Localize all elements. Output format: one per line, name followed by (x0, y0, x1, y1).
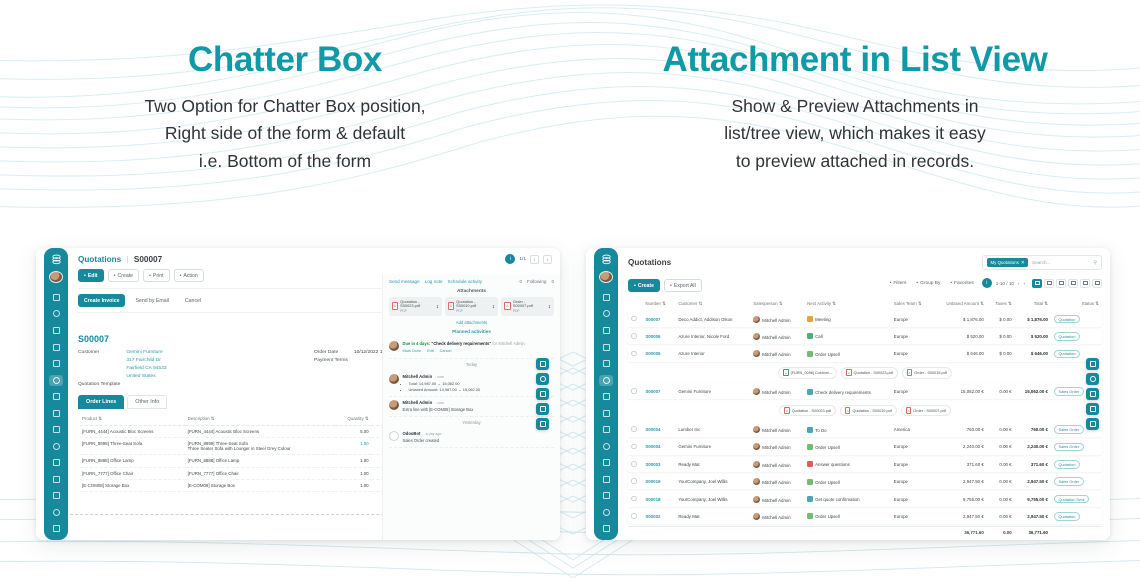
search-icon[interactable] (1086, 373, 1099, 385)
list-header-row: Number ⇅Customer ⇅Salesperson ⇅Next Acti… (628, 299, 1102, 309)
pager-prev-button[interactable]: ‹ (1018, 281, 1020, 286)
cell-number[interactable]: S00006 (642, 329, 675, 344)
list-footer-totals: 36,771.600.0036,771.60 (628, 526, 1102, 539)
message-body: Mitchell Admin- nowExtra line with [E-CO… (403, 400, 474, 412)
cell-team: Europe (891, 311, 933, 326)
shield-icon[interactable] (49, 358, 63, 369)
chatter-followers[interactable]: 0 Following 0 (519, 279, 554, 284)
message-author: OdooBot (403, 431, 421, 436)
cell-taxes: $ 0.00 (987, 329, 1015, 344)
cell-salesperson: Mitchell Admin (750, 439, 804, 454)
activity-label: To Do (815, 428, 826, 433)
plus-icon: • (114, 273, 116, 279)
person-icon[interactable] (599, 490, 613, 501)
attachment-chip[interactable]: A[FURN_0096] Customi... (778, 367, 837, 379)
grid-icon[interactable] (599, 408, 613, 419)
attachment-row: A[FURN_0096] Customi...AQuotation - S000… (628, 364, 1102, 382)
cell-number[interactable]: S00002 (642, 509, 675, 524)
avatar (389, 341, 399, 351)
cell-product: [E-COM08] Storage Box (80, 480, 186, 492)
cell-number[interactable]: S00003 (642, 457, 675, 472)
column-header: Customer ⇅ (675, 299, 750, 309)
page-title-right: Attachment in List View (570, 42, 1140, 79)
cell-number[interactable]: S00007 (642, 311, 675, 326)
attachment-chip[interactable]: AQuotation - S00023.pdf (779, 405, 836, 417)
record-link[interactable]: S00004 (645, 444, 660, 449)
search-facet-label: My Quotations (991, 260, 1019, 265)
cell-quantity: 1.00 (335, 437, 370, 454)
row-select[interactable] (628, 346, 642, 361)
record-link[interactable]: S00003 (645, 462, 660, 467)
print-button[interactable]: •Print (143, 269, 170, 282)
shield-icon[interactable] (599, 358, 613, 369)
cell-untaxed: 760.00 € (933, 422, 987, 437)
row-select[interactable] (628, 457, 642, 472)
cell-activity: Order Upsell (804, 509, 891, 524)
attachment-chip-list[interactable]: A[FURN_0096] Customi...AQuotation - S000… (631, 367, 1099, 379)
column-header: Sales Team ⇅ (891, 299, 933, 309)
status-badge: Quotation (1054, 512, 1080, 521)
table-row[interactable]: S00007Deco Addict, Addison OlsonMitchell… (628, 311, 1102, 326)
avatar (389, 431, 399, 441)
expand-icon[interactable] (536, 388, 549, 400)
message-time: - a day ago (423, 432, 441, 436)
breadcrumb[interactable]: Quotations | S00007 (78, 255, 550, 264)
document-icon[interactable] (599, 342, 613, 353)
table-row[interactable]: S00006Azure Interior, Nicole FordMitchel… (628, 329, 1102, 344)
cell-total: 2,947.50 € (1015, 474, 1051, 489)
document-icon[interactable] (49, 342, 63, 353)
attachment-filename: Quotation - S00023.pdf (400, 300, 434, 310)
table-row[interactable]: S00019YourCompany, Joel WillisMitchell A… (628, 474, 1102, 489)
row-select[interactable] (628, 439, 642, 454)
floating-action-chips-right[interactable] (1086, 358, 1099, 430)
table-row[interactable]: S00002Ready MatMitchell AdminOrder Upsel… (628, 509, 1102, 524)
list-action-buttons[interactable]: •Create•Export All (628, 279, 702, 292)
chatter-log-note-button[interactable]: Log note (425, 279, 443, 284)
activity-label: Call (815, 334, 823, 339)
footer-spacer (804, 526, 891, 539)
clipboard-icon[interactable] (599, 457, 613, 468)
cell-quantity: 1.00 (335, 480, 370, 492)
follower-count: 0 (519, 279, 522, 284)
search-input[interactable]: My Quotations ✕ Search... ⚲ (982, 255, 1102, 270)
cell-activity: Get quote confirmation (804, 491, 891, 506)
list-view-body: Quotations My Quotations ✕ Search... ⚲ •… (620, 248, 1110, 540)
attachment-row: AQuotation - S00023.pdfAQuotation - S000… (628, 401, 1102, 419)
cell-total: 2,947.50 € (1015, 509, 1051, 524)
salesperson-name: Mitchell Admin (762, 515, 790, 520)
message-header: Mitchell Admin- now (403, 374, 481, 380)
list-body[interactable]: S00007Deco Addict, Addison OlsonMitchell… (628, 311, 1102, 538)
message-body: Mitchell Admin- nowTotal: 14,987.00 → 15… (403, 374, 481, 393)
scissors-icon[interactable] (49, 424, 63, 435)
chart-icon[interactable] (49, 375, 63, 386)
save-icon[interactable] (536, 418, 549, 430)
tab-other-info[interactable]: Other Info (127, 395, 167, 409)
cell-salesperson: Mitchell Admin (750, 474, 804, 489)
attachment-chip[interactable]: AOrder - S00007.pdfPDF↧ (501, 297, 554, 316)
plus-icon: • (634, 283, 636, 289)
create-invoice-button[interactable]: Create Invoice (78, 294, 125, 307)
cell-description: [FURN_8999] Three-Seat Sofa Three Seater… (186, 437, 336, 454)
attachment-chip-list[interactable]: AQuotation - S00023.pdfAQuotation - S000… (631, 405, 1099, 417)
close-icon[interactable]: ✕ (1021, 260, 1025, 266)
save-icon[interactable] (1086, 418, 1099, 430)
activity-view-icon[interactable] (1092, 279, 1102, 288)
checkbox-icon[interactable] (631, 426, 637, 432)
salesperson-name: Mitchell Admin (762, 318, 790, 323)
cell-total: 371.60 € (1015, 457, 1051, 472)
field-labels-right: Order Date Payment Terms (314, 349, 348, 389)
salesperson-name: Mitchell Admin (762, 480, 790, 485)
tool-label: Favorites (954, 281, 974, 286)
odoo-logo-icon (599, 253, 614, 266)
tool-favorites[interactable]: •Favorites (946, 279, 977, 288)
people-icon[interactable] (49, 474, 63, 485)
checkbox-icon[interactable] (631, 388, 637, 394)
cell-team: Europe (891, 509, 933, 524)
cell-description: [FURN_4444] Acoustic Bloc Screens (186, 425, 336, 437)
breadcrumb-record: S00007 (134, 255, 162, 264)
megaphone-icon[interactable] (599, 308, 613, 319)
record-link[interactable]: S00007 (645, 317, 660, 322)
record-link[interactable]: S00019 (645, 479, 660, 484)
salesperson-name: Mitchell Admin (762, 463, 790, 468)
table-row[interactable]: S00004Lumber IncMitchell AdminTo DoAmeri… (628, 422, 1102, 437)
cell-quantity: 1.00 (335, 455, 370, 467)
export-all-button[interactable]: •Export All (664, 279, 702, 292)
attachment-filename: Quotation - S00023.pdf (854, 371, 893, 375)
edit-activity-button[interactable]: Edit (427, 349, 434, 355)
status-badge: Quotation (1054, 350, 1080, 359)
cell-untaxed: 9,755.00 € (933, 491, 987, 506)
star-icon[interactable] (1086, 358, 1099, 370)
tab-order-lines[interactable]: Order Lines (78, 395, 124, 409)
info-badge[interactable]: i (982, 278, 992, 288)
list-toolbar-right[interactable]: •Filters•Group By•Favorites i 1-10 / 10 … (886, 278, 1102, 288)
record-link[interactable]: S00005 (645, 351, 660, 356)
view-switcher[interactable] (1032, 279, 1102, 288)
row-select[interactable] (628, 474, 642, 489)
salesperson-name: Mitchell Admin (762, 390, 790, 395)
cell-untaxed: $ 646.00 (933, 346, 987, 361)
tool-label: Filters (893, 281, 906, 286)
cancel-activity-button[interactable]: Cancel (440, 349, 452, 355)
cell-number[interactable]: S00004 (642, 439, 675, 454)
activity-label: Order Upsell (815, 352, 840, 357)
pdf-icon: A (906, 407, 912, 414)
headline-band: Chatter Box Two Option for Chatter Box p… (0, 0, 1140, 205)
gear-icon[interactable] (49, 523, 63, 534)
cell-customer: Ready Mat (675, 509, 750, 524)
search-placeholder: Search... (1032, 260, 1050, 265)
person-icon[interactable] (49, 490, 63, 501)
question-icon (807, 461, 813, 467)
pdf-icon: A (907, 369, 913, 376)
recipient-count: 0 (551, 279, 554, 284)
footer-spacer (628, 526, 642, 539)
footer-taxes: 0.00 (987, 526, 1015, 539)
clipboard-icon[interactable] (49, 457, 63, 468)
follow-toggle[interactable]: Following (527, 279, 546, 284)
cancel-button[interactable]: Cancel (179, 294, 207, 307)
breadcrumb-app[interactable]: Quotations (78, 255, 121, 264)
page-subtitle-left: Two Option for Chatter Box position, Rig… (0, 93, 570, 176)
avatar[interactable] (599, 271, 613, 283)
group-icon: • (916, 281, 918, 286)
star-icon[interactable] (536, 358, 549, 370)
cell-status: Quotation (1051, 329, 1102, 344)
floating-action-chips-left[interactable] (536, 358, 549, 430)
pager-prev-button[interactable]: ‹ (530, 255, 539, 264)
avatar[interactable] (49, 271, 63, 283)
message-header: OdooBot- a day ago (403, 431, 442, 437)
tool-group-by[interactable]: •Group By (912, 279, 944, 288)
attachments-title: Attachments (389, 289, 554, 294)
action-button[interactable]: •Action (174, 269, 204, 282)
cell-number[interactable]: S00007 (642, 384, 675, 399)
mark-done-button[interactable]: Mark Done (403, 349, 422, 355)
list-view-icon[interactable] (1032, 279, 1042, 288)
box-icon[interactable] (599, 441, 613, 452)
column-header-select (628, 299, 642, 309)
upsell-icon (807, 444, 813, 450)
print-icon[interactable] (536, 403, 549, 415)
grid-icon[interactable] (49, 408, 63, 419)
attachment-chip[interactable]: AQuotation - S00010.pdfPDF↧ (445, 297, 498, 316)
pdf-icon: A (392, 302, 398, 310)
print-icon[interactable] (1086, 403, 1099, 415)
cell-total: 2,240.00 € (1015, 439, 1051, 454)
message-time: - now (435, 375, 444, 379)
create-button[interactable]: •Create (108, 269, 139, 282)
attachment-chip[interactable]: AQuotation - S00023.pdfPDF↧ (389, 297, 442, 316)
table-row[interactable]: S00003Ready MatMitchell AdminAnswer ques… (628, 457, 1102, 472)
attachment-chip[interactable]: AOrder - S00007.pdf (901, 405, 951, 417)
attachment-chip[interactable]: AOrder - S00015.pdf (902, 367, 952, 379)
cell-untaxed: $ 520.00 (933, 329, 987, 344)
download-icon[interactable]: ↧ (492, 304, 495, 309)
info-badge[interactable]: i (505, 254, 515, 264)
cell-total: $ 646.00 (1015, 346, 1051, 361)
checkbox-icon[interactable] (631, 444, 637, 450)
cell-customer: Azure Interior, Nicole Ford (675, 329, 750, 344)
checkbox-icon[interactable] (631, 496, 637, 502)
edit-button[interactable]: •Edit (78, 269, 104, 282)
row-select[interactable] (628, 491, 642, 506)
cell-quantity: 5.00 (335, 425, 370, 437)
cell-number[interactable]: S00018 (642, 491, 675, 506)
field-value-customer[interactable]: Gemini Furniture (126, 349, 166, 357)
chatter-schedule-activity-button[interactable]: Schedule activity (448, 279, 482, 284)
create-button[interactable]: •Create (628, 279, 660, 292)
attachment-chip[interactable]: AQuotation - S00023.pdf (841, 367, 898, 379)
cell-salesperson: Mitchell Admin (750, 457, 804, 472)
checkbox-icon[interactable] (631, 316, 637, 322)
table-row[interactable]: S00004Gemini FurnitureMitchell AdminOrde… (628, 439, 1102, 454)
record-pager[interactable]: i 1/1 ‹ › (505, 254, 552, 264)
send-by-email-button[interactable]: Send by Email (129, 294, 174, 307)
pager-next-button[interactable]: › (1023, 281, 1025, 286)
chart-icon[interactable] (599, 375, 613, 386)
avatar (753, 478, 760, 485)
field-label: Customer (78, 349, 120, 357)
cell-activity: Order Upsell (804, 346, 891, 361)
cell-taxes: 0.00 € (987, 384, 1015, 399)
cell-taxes: 0.00 € (987, 491, 1015, 506)
table-row[interactable]: S00007Gemini FurnitureMitchell AdminChec… (628, 384, 1102, 399)
chatter-send-message-button[interactable]: Send message (389, 279, 420, 284)
message-body: OdooBot- a day agoSales Order created (403, 431, 442, 443)
field-label: Quotation Template (78, 381, 120, 389)
row-select[interactable] (628, 422, 642, 437)
activity-label: Get quote confirmation (815, 497, 859, 502)
home-icon[interactable] (49, 292, 63, 303)
footer-spacer (750, 526, 804, 539)
odoo-logo-icon (49, 253, 64, 266)
checkbox-icon[interactable] (631, 513, 637, 519)
calendar-icon (807, 389, 813, 395)
cell-total: $ 1,876.00 (1015, 311, 1051, 326)
row-select[interactable] (628, 311, 642, 326)
calendar-view-icon[interactable] (1056, 279, 1066, 288)
cell-activity: Answer questions (804, 457, 891, 472)
avatar (753, 350, 760, 357)
star-icon: • (950, 281, 952, 286)
attachment-type: PDF (456, 309, 490, 313)
pager-range: 1-10 / 10 (996, 281, 1014, 286)
checkbox-icon[interactable] (631, 478, 637, 484)
table-row[interactable]: S00005Azure InteriorMitchell AdminOrder … (628, 346, 1102, 361)
cell-customer: Lumber Inc (675, 422, 750, 437)
cell-total: 15,062.00 € (1015, 384, 1051, 399)
record-link[interactable]: S00002 (645, 514, 660, 519)
calendar-icon[interactable] (49, 325, 63, 336)
download-icon[interactable]: ↧ (436, 304, 439, 309)
quotations-list-table: Number ⇅Customer ⇅Salesperson ⇅Next Acti… (628, 297, 1102, 540)
printer-icon: • (149, 273, 151, 279)
page-title: Quotations (628, 258, 671, 267)
checkbox-icon[interactable] (631, 333, 637, 339)
cell-number[interactable]: S00004 (642, 422, 675, 437)
scissors-icon[interactable] (599, 424, 613, 435)
cell-total: 760.00 € (1015, 422, 1051, 437)
cell-status: Quotation (1051, 457, 1102, 472)
people-icon[interactable] (599, 474, 613, 485)
home-icon[interactable] (599, 292, 613, 303)
message-bullets: Total: 14,987.00 → 15,062.00Untaxed Amou… (409, 381, 481, 392)
attachment-filename: Order - S00015.pdf (914, 371, 947, 375)
cell-team: Europe (891, 346, 933, 361)
form-view-body: i 1/1 ‹ › Quotations | S00007 •Edit•Crea… (70, 248, 560, 540)
gear-icon[interactable] (599, 523, 613, 534)
cell-total: 9,755.00 € (1015, 491, 1051, 506)
cell-salesperson: Mitchell Admin (750, 384, 804, 399)
message-author: Mitchell Admin (403, 400, 433, 405)
app-sidebar-right[interactable] (594, 248, 618, 540)
row-select[interactable] (628, 384, 642, 399)
list-view-header: Quotations My Quotations ✕ Search... ⚲ (620, 248, 1110, 270)
row-select[interactable] (628, 509, 642, 524)
column-header: Product ⇅ (80, 413, 186, 426)
activity-label: Order Upsell (815, 514, 840, 519)
attachment-list[interactable]: AQuotation - S00023.pdfPDF↧AQuotation - … (389, 297, 554, 316)
checkbox-icon[interactable] (631, 461, 637, 467)
activity-label: Meeting (815, 317, 831, 322)
column-header: Quantity ⇅ (335, 413, 370, 426)
status-badge: Quotation Sent (1054, 495, 1089, 504)
cell-number[interactable]: S00019 (642, 474, 675, 489)
chatter-actions[interactable]: Send message Log note Schedule activity … (389, 279, 554, 284)
add-attachments-button[interactable]: Add attachments (389, 320, 554, 325)
filter-tools[interactable]: •Filters•Group By•Favorites (886, 279, 978, 288)
checkbox-icon[interactable] (631, 351, 637, 357)
planned-activities-title: Planned activities (389, 329, 554, 334)
search-facet[interactable]: My Quotations ✕ (987, 258, 1028, 267)
folder-icon[interactable] (49, 391, 63, 402)
message-text: Extra line with [E-COM08] Storage Box (403, 407, 474, 413)
search-icon[interactable] (536, 373, 549, 385)
folder-icon[interactable] (599, 391, 613, 402)
kanban-view-icon[interactable] (1044, 279, 1054, 288)
record-link[interactable]: S00007 (645, 389, 660, 394)
activity-actions[interactable]: Mark Done Edit Cancel (403, 349, 525, 355)
megaphone-icon[interactable] (49, 308, 63, 319)
expand-icon[interactable] (1086, 388, 1099, 400)
attachment-filename: Order - S00007.pdf (913, 409, 946, 413)
tool-filters[interactable]: •Filters (886, 279, 911, 288)
activity-label: Order Upsell (815, 445, 840, 450)
attachment-cell[interactable]: AQuotation - S00023.pdfAQuotation - S000… (628, 401, 1102, 419)
record-link[interactable]: S00004 (645, 427, 660, 432)
graph-view-icon[interactable] (1080, 279, 1090, 288)
search-icon[interactable]: ⚲ (1093, 260, 1097, 266)
pdf-icon: A (448, 302, 454, 310)
activity-assignee: for Mitchell Admin (492, 341, 524, 346)
cell-number[interactable]: S00005 (642, 346, 675, 361)
settings-grid-icon[interactable] (49, 507, 63, 518)
record-link[interactable]: S00006 (645, 334, 660, 339)
cell-status: Sales Order (1051, 439, 1102, 454)
box-icon[interactable] (49, 441, 63, 452)
column-header: Taxes ⇅ (987, 299, 1015, 309)
avatar (389, 400, 399, 410)
table-row[interactable]: S00018YourCompany, Joel WillisMitchell A… (628, 491, 1102, 506)
settings-grid-icon[interactable] (599, 507, 613, 518)
row-select[interactable] (628, 329, 642, 344)
page-title-left: Chatter Box (0, 42, 570, 79)
status-badge: Sales Order (1054, 477, 1084, 486)
pager-next-button[interactable]: › (543, 255, 552, 264)
cell-untaxed: $ 1,876.00 (933, 311, 987, 326)
field-values-left[interactable]: Gemini Furniture 317 Fairchild Dr Fairfi… (126, 349, 166, 389)
cell-product: [FURN_8999] Three-Seat Sofa (80, 437, 186, 454)
cell-activity: Check delivery requirements (804, 384, 891, 399)
record-link[interactable]: S00018 (645, 497, 660, 502)
footer-spacer (642, 526, 675, 539)
calendar-icon[interactable] (599, 325, 613, 336)
pivot-view-icon[interactable] (1068, 279, 1078, 288)
tool-label: Group By (920, 281, 940, 286)
salesperson-name: Mitchell Admin (762, 498, 790, 503)
salesperson-name: Mitchell Admin (762, 428, 790, 433)
attachment-cell[interactable]: A[FURN_0096] Customi...AQuotation - S000… (628, 364, 1102, 382)
app-sidebar-left[interactable] (44, 248, 68, 540)
download-icon[interactable]: ↧ (548, 304, 551, 309)
attachment-chip[interactable]: AQuotation - S00010.pdf (840, 405, 897, 417)
statusbar-buttons[interactable]: Create InvoiceSend by EmailCancel (78, 294, 207, 307)
